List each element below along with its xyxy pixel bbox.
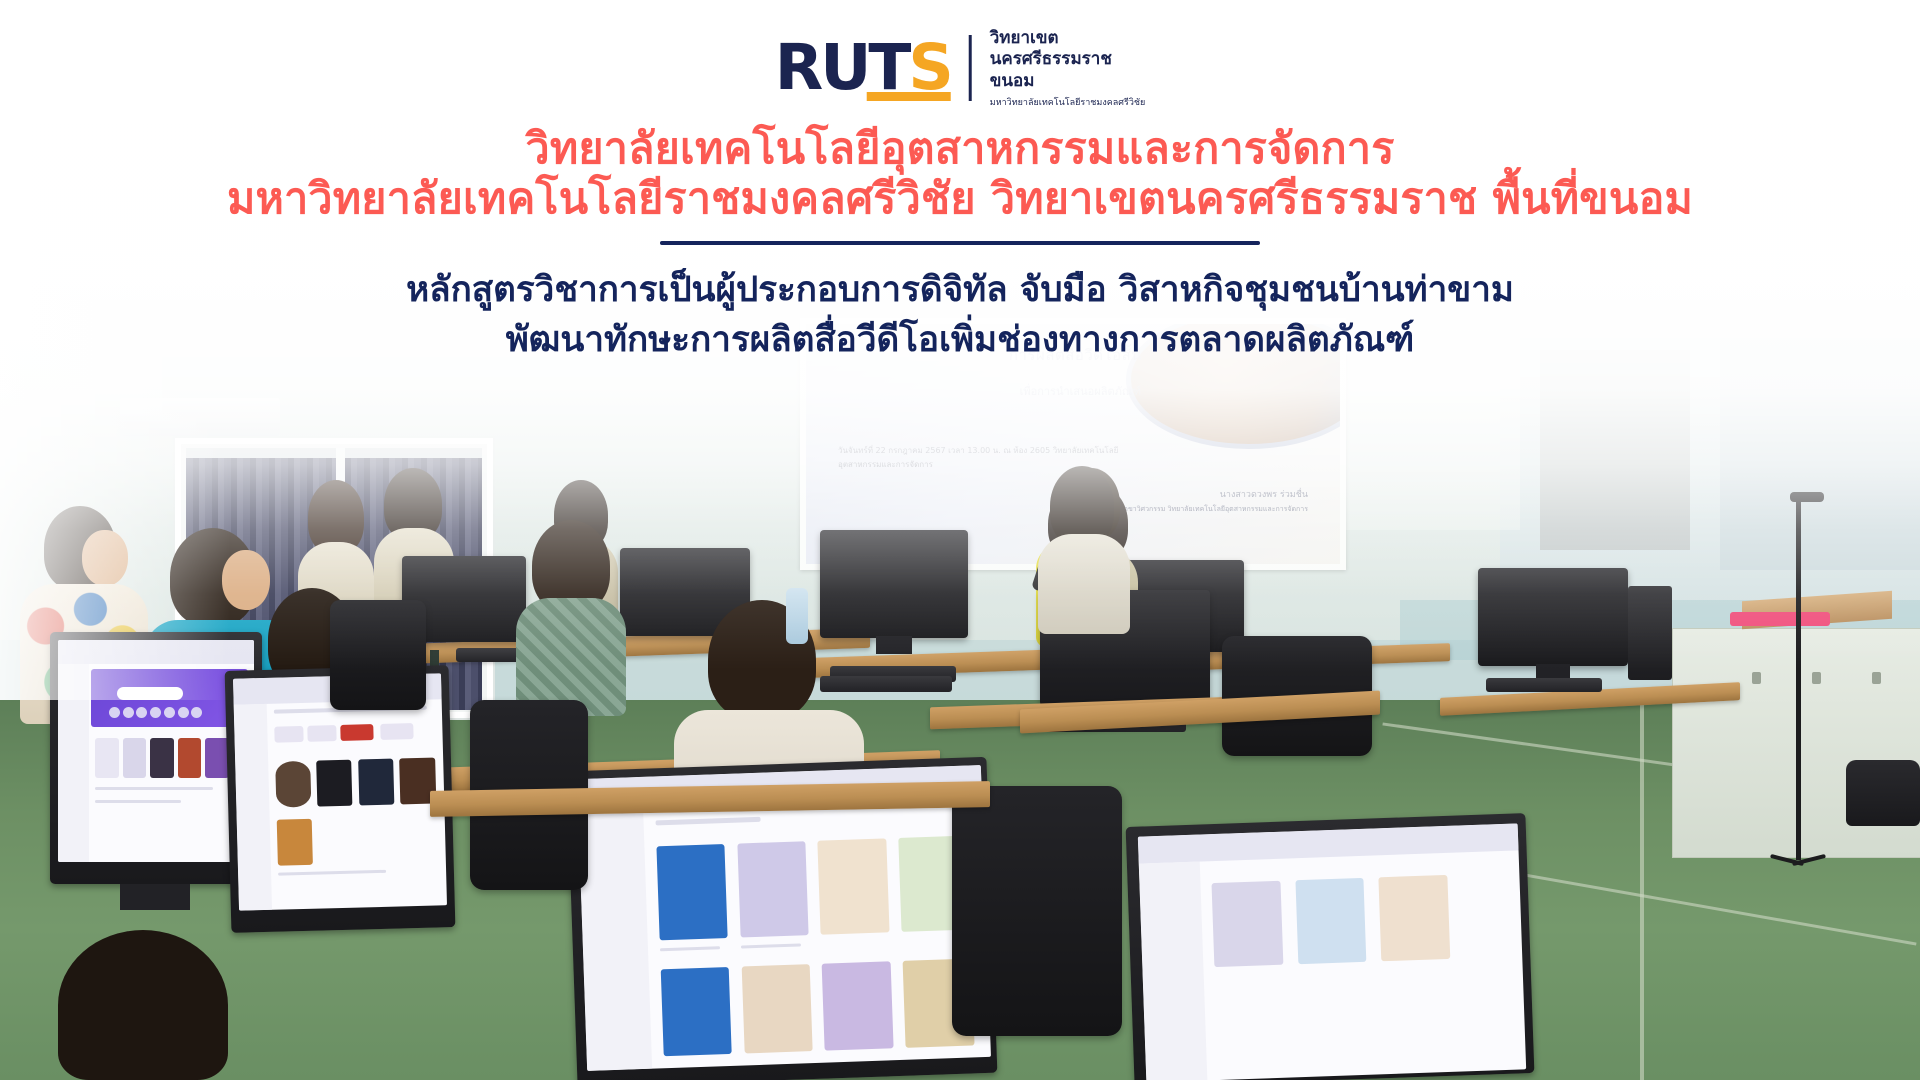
logo-campus-text: วิทยาเขต นครศรีธรรมราช ขนอม มหาวิทยาลัยเ…: [990, 28, 1146, 109]
logo-campus-line3: ขนอม: [990, 71, 1146, 92]
logo-campus-line1: วิทยาเขต: [990, 28, 1146, 49]
logo-university-name: มหาวิทยาลัยเทคโนโลยีราชมงคลศรีวิชัย: [990, 95, 1146, 109]
logo-campus-line2: นครศรีธรรมราช: [990, 49, 1146, 70]
logo-divider: [969, 35, 972, 101]
logo-ruts-text: RUT: [775, 38, 909, 98]
logo-s-letter: S: [908, 38, 950, 98]
text-overlay: RUT S วิทยาเขต นครศรีธรรมราช ขนอม มหาวิท…: [0, 0, 1920, 1080]
heading-line-1: วิทยาลัยเทคโนโลยีอุตสาหกรรมและการจัดการ: [0, 122, 1920, 177]
heading-line-2: มหาวิทยาลัยเทคโนโลยีราชมงคลศรีวิชัย วิทย…: [0, 172, 1920, 227]
logo-amber-underline: [867, 92, 951, 101]
logo-wordmark: RUT S: [775, 38, 951, 98]
subheading-line-2: พัฒนาทักษะการผลิตสื่อวีดีโอเพิ่มช่องทางก…: [0, 318, 1920, 364]
subheading-line-1: หลักสูตรวิชาการเป็นผู้ประกอบการดิจิทัล จ…: [0, 268, 1920, 314]
poster-canvas: การผลิตสื่อวีดีโอสั้น เพื่อการนำเสนอผลิต…: [0, 0, 1920, 1080]
ruts-logo: RUT S วิทยาเขต นครศรีธรรมราช ขนอม มหาวิท…: [775, 28, 1146, 109]
heading-divider-rule: [660, 241, 1260, 245]
